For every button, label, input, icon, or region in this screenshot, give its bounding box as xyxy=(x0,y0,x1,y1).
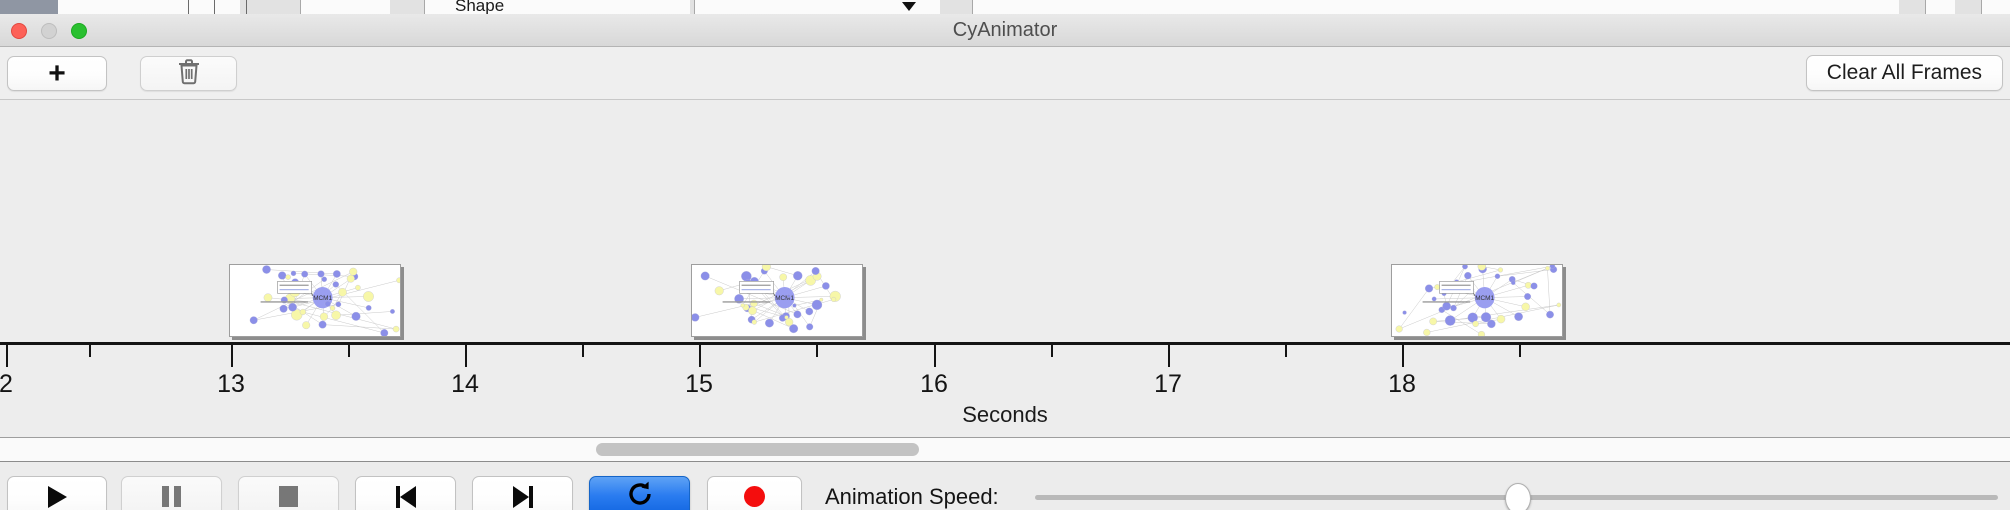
svg-text:MCM1: MCM1 xyxy=(1475,295,1494,302)
ruler-tick-major xyxy=(1402,345,1404,367)
clear-all-frames-button[interactable]: Clear All Frames xyxy=(1806,55,2003,91)
ruler-tick-minor xyxy=(348,345,350,357)
ruler-tick-label: 13 xyxy=(217,370,245,399)
ruler-tick-minor xyxy=(1519,345,1521,357)
timeline-panel: MCM1MCM1MCM1 2131415161718 Seconds xyxy=(0,100,2010,438)
record-icon xyxy=(744,486,765,507)
background-window-chip xyxy=(240,0,301,14)
ruler-tick-label: 18 xyxy=(1388,370,1416,399)
axis-title: Seconds xyxy=(0,402,2010,428)
svg-text:MCM1: MCM1 xyxy=(313,295,332,302)
background-window-chip xyxy=(390,0,425,14)
ruler-tick-major xyxy=(699,345,701,367)
background-window-chip xyxy=(0,0,58,14)
frames-track: MCM1MCM1MCM1 xyxy=(0,100,2010,342)
playback-controls: Animation Speed: xyxy=(0,462,2010,510)
timeline-frame-thumbnail[interactable]: MCM1 xyxy=(1391,264,1563,337)
ruler-tick-minor xyxy=(582,345,584,357)
ruler-tick-major xyxy=(231,345,233,367)
background-window-tick xyxy=(690,0,695,14)
toolbar: + Clear All Frames xyxy=(0,47,2010,100)
next-frame-button[interactable] xyxy=(472,476,573,510)
background-window-tick xyxy=(188,0,189,14)
background-window-strip: Shape xyxy=(0,0,2010,15)
time-ruler: 2131415161718 Seconds xyxy=(0,342,2010,437)
previous-frame-button[interactable] xyxy=(355,476,456,510)
ruler-tick-major xyxy=(6,345,8,367)
record-button[interactable] xyxy=(707,476,802,510)
pause-button[interactable] xyxy=(121,476,222,510)
timeline-scrollbar-thumb[interactable] xyxy=(596,443,919,456)
titlebar: CyAnimator xyxy=(0,14,2010,47)
ruler-tick-label: 2 xyxy=(0,370,13,399)
play-button[interactable] xyxy=(7,476,107,510)
ruler-baseline xyxy=(0,342,2010,345)
ruler-tick-major xyxy=(934,345,936,367)
pause-icon xyxy=(162,486,181,507)
plus-icon: + xyxy=(48,59,66,89)
stop-button[interactable] xyxy=(238,476,339,510)
ruler-tick-label: 16 xyxy=(920,370,948,399)
timeline-frame-thumbnail[interactable]: MCM1 xyxy=(691,264,863,337)
ruler-tick-minor xyxy=(816,345,818,357)
svg-text:MCM1: MCM1 xyxy=(775,295,794,302)
background-window-chip xyxy=(1899,0,1926,14)
background-window-chip xyxy=(1955,0,1982,14)
add-frame-button[interactable]: + xyxy=(7,56,107,91)
clear-all-frames-label: Clear All Frames xyxy=(1827,61,1982,85)
window-title: CyAnimator xyxy=(0,19,2010,42)
ruler-tick-minor xyxy=(1285,345,1287,357)
ruler-tick-major xyxy=(1168,345,1170,367)
background-window-tick xyxy=(246,0,247,14)
background-window-label: Shape xyxy=(455,0,504,15)
play-icon xyxy=(48,486,67,508)
animation-speed-slider[interactable] xyxy=(1035,495,1998,500)
ruler-tick-major xyxy=(465,345,467,367)
background-window-arrow-icon xyxy=(902,2,916,11)
stop-icon xyxy=(279,486,298,507)
timeline-frame-thumbnail[interactable]: MCM1 xyxy=(229,264,401,337)
background-window-tick xyxy=(214,0,215,14)
animation-speed-thumb[interactable] xyxy=(1505,483,1531,510)
loop-icon xyxy=(626,480,654,510)
skip-back-icon xyxy=(396,486,416,508)
ruler-tick-minor xyxy=(1051,345,1053,357)
background-window-chip xyxy=(940,0,973,14)
loop-button[interactable] xyxy=(589,476,690,510)
trash-icon xyxy=(177,58,201,90)
cyanimator-window: CyAnimator + Clear All Frames MCM1MCM1MC… xyxy=(0,14,2010,510)
animation-speed-label: Animation Speed: xyxy=(825,484,999,510)
ruler-tick-label: 17 xyxy=(1154,370,1182,399)
timeline-scrollbar[interactable] xyxy=(0,438,2010,462)
skip-forward-icon xyxy=(513,486,533,508)
ruler-tick-label: 15 xyxy=(685,370,713,399)
delete-frame-button[interactable] xyxy=(140,56,237,91)
ruler-tick-label: 14 xyxy=(451,370,479,399)
ruler-tick-minor xyxy=(89,345,91,357)
